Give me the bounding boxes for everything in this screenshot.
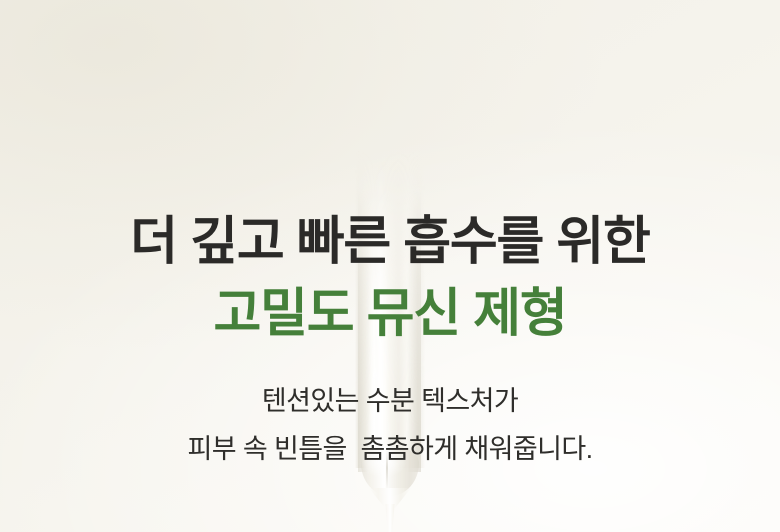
subcopy-line-1: 텐션있는 수분 텍스처가 [0,388,780,415]
promo-banner: 더 깊고 빠른 흡수를 위한 고밀도 뮤신 제형 텐션있는 수분 텍스처가 피부… [0,0,780,532]
headline-line-1: 더 깊고 빠른 흡수를 위한 [0,216,780,268]
headline-line-2: 고밀도 뮤신 제형 [0,288,780,340]
subcopy-line-2: 피부 속 빈틈을 촘촘하게 채워줍니다. [0,436,780,463]
copy-block: 더 깊고 빠른 흡수를 위한 고밀도 뮤신 제형 텐션있는 수분 텍스처가 피부… [0,0,780,532]
